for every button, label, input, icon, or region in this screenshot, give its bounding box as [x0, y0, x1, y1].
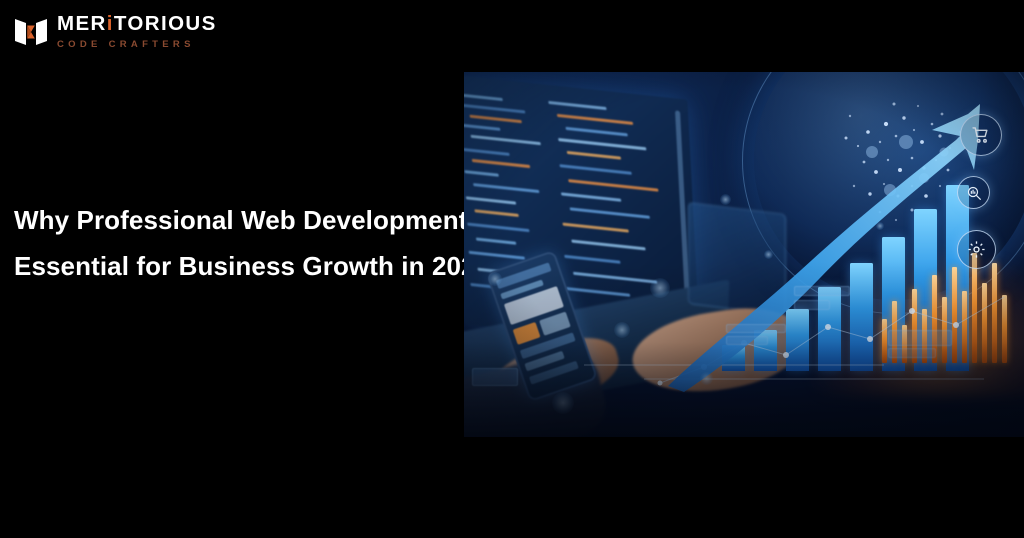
site-logo[interactable]: MERiTORIOUS CODE CRAFTERS [14, 14, 217, 49]
logo-tagline: CODE CRAFTERS [57, 40, 217, 50]
logo-wordmark-accent: i [107, 12, 114, 35]
headline-line-1: Why Professional Web Development Is [14, 197, 466, 243]
headline-line-2: Essential for Business Growth in 2026 [14, 243, 466, 289]
logo-text: MERiTORIOUS CODE CRAFTERS [57, 14, 217, 49]
hero-image [464, 72, 1024, 437]
logo-wordmark: MERiTORIOUS [57, 14, 217, 35]
logo-wordmark-part1: MER [57, 12, 107, 35]
logo-wordmark-part2: TORIOUS [114, 12, 217, 35]
image-vignette [464, 72, 1024, 437]
page-title: Why Professional Web Development Is Esse… [14, 197, 466, 289]
logo-mark-icon [14, 16, 48, 48]
blog-hero-banner: MERiTORIOUS CODE CRAFTERS Why Profession… [0, 0, 1024, 538]
